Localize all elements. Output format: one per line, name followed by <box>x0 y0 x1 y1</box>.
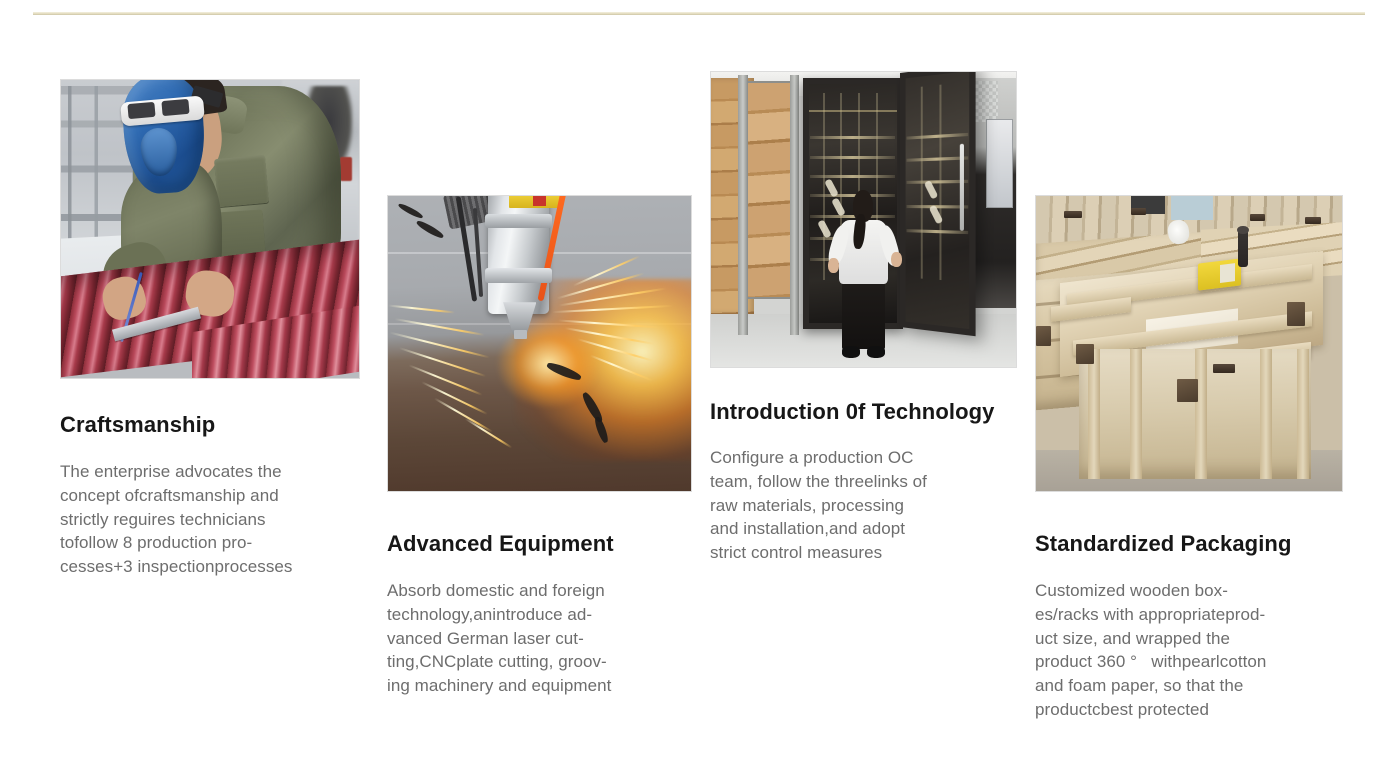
body-line: raw materials, processing <box>710 494 1020 518</box>
top-divider-rule <box>33 12 1365 15</box>
body-line: ing machinery and equipment <box>387 674 697 698</box>
feature-title: Craftsmanship <box>60 412 375 438</box>
body-line: and installation,and adopt <box>710 517 1020 541</box>
feature-title: Standardized Packaging <box>1035 531 1347 557</box>
body-line: Configure a production OC <box>710 446 1020 470</box>
standardized-packaging-photo <box>1035 195 1343 492</box>
advanced-equipment-photo <box>387 195 692 492</box>
introduction-of-technology-photo <box>710 71 1017 368</box>
body-line: product 360 ° withpearlcotton <box>1035 650 1347 674</box>
body-line: strict control measures <box>710 541 1020 565</box>
feature-title: Advanced Equipment <box>387 531 697 557</box>
feature-body: Configure a production OC team, follow t… <box>710 446 1020 565</box>
body-line: uct size, and wrapped the <box>1035 627 1347 651</box>
body-line: tofollow 8 production pro- <box>60 531 375 555</box>
feature-card-introduction-of-technology: Introduction 0f Technology Configure a p… <box>710 71 1020 565</box>
feature-body: Absorb domestic and foreign technology,a… <box>387 579 697 698</box>
feature-title: Introduction 0f Technology <box>710 399 1020 425</box>
body-line: technology,anintroduce ad- <box>387 603 697 627</box>
body-line: productcbest protected <box>1035 698 1347 722</box>
craftsmanship-photo <box>60 79 360 379</box>
body-line: vanced German laser cut- <box>387 627 697 651</box>
body-line: es/racks with appropriateprod- <box>1035 603 1347 627</box>
glass-door-open <box>900 72 976 336</box>
body-line: and foam paper, so that the <box>1035 674 1347 698</box>
body-line: ting,CNCplate cutting, groov- <box>387 650 697 674</box>
body-line: The enterprise advocates the <box>60 460 375 484</box>
feature-card-standardized-packaging: Standardized Packaging Customized wooden… <box>1035 195 1347 722</box>
feature-grid-page: Craftsmanship The enterprise advocates t… <box>0 0 1394 759</box>
body-line: team, follow the threelinks of <box>710 470 1020 494</box>
body-line: Absorb domestic and foreign <box>387 579 697 603</box>
feature-card-craftsmanship: Craftsmanship The enterprise advocates t… <box>60 79 375 579</box>
body-line: concept ofcraftsmanship and <box>60 484 375 508</box>
feature-body: Customized wooden box- es/racks with app… <box>1035 579 1347 722</box>
feature-body: The enterprise advocates the concept ofc… <box>60 460 375 579</box>
body-line: strictly reguires technicians <box>60 508 375 532</box>
feature-card-advanced-equipment: Advanced Equipment Absorb domestic and f… <box>387 195 697 698</box>
body-line: Customized wooden box- <box>1035 579 1347 603</box>
body-line: cesses+3 inspectionprocesses <box>60 555 375 579</box>
